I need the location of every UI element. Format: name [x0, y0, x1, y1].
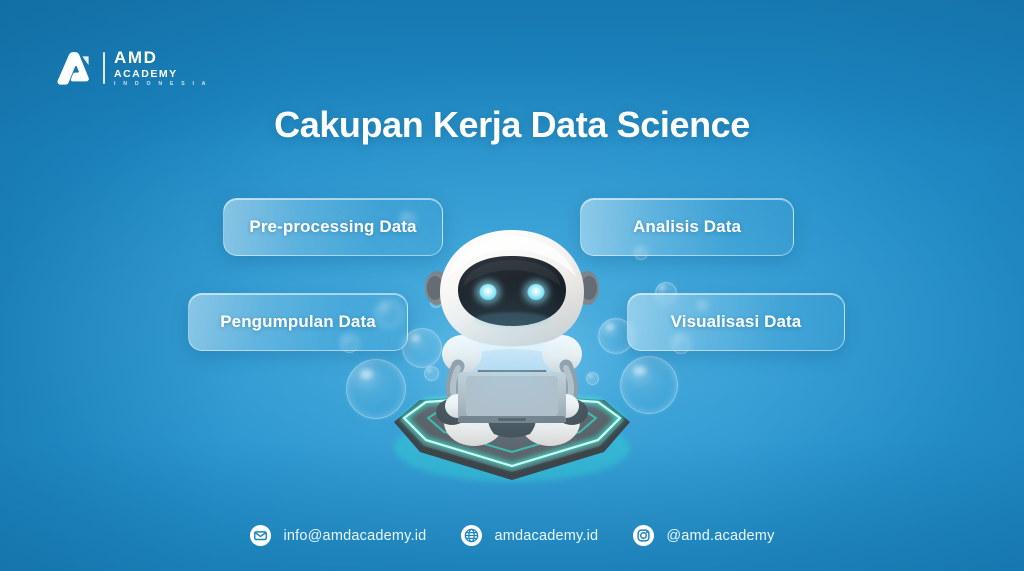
logo-text-country: I N D O N E S I A	[114, 82, 209, 87]
pill-pengumpulan-data[interactable]: Pengumpulan Data	[188, 293, 408, 351]
pill-pre-processing-data[interactable]: Pre-processing Data	[223, 198, 443, 256]
footer-contacts: info@amdacademy.id amdacademy.id @amd.ac…	[0, 524, 1024, 547]
pill-analisis-data[interactable]: Analisis Data	[580, 198, 794, 256]
robot-illustration	[362, 226, 662, 496]
logo-text-amd: AMD	[114, 49, 209, 66]
pill-label: Pre-processing Data	[249, 217, 416, 237]
brand-logo: AMD ACADEMY I N D O N E S I A	[54, 48, 209, 88]
globe-icon	[460, 524, 483, 547]
instagram-icon	[632, 524, 655, 547]
contact-website[interactable]: amdacademy.id	[460, 524, 598, 547]
mail-icon	[249, 524, 272, 547]
contact-email-text: info@amdacademy.id	[283, 528, 426, 544]
pill-label: Visualisasi Data	[671, 312, 802, 332]
page-title: Cakupan Kerja Data Science	[0, 104, 1024, 146]
pill-visualisasi-data[interactable]: Visualisasi Data	[627, 293, 845, 351]
logo-text-academy: ACADEMY	[114, 69, 209, 80]
contact-instagram[interactable]: @amd.academy	[632, 524, 774, 547]
pill-label: Analisis Data	[633, 217, 741, 237]
robot-glow	[347, 246, 677, 496]
slide-canvas: AMD ACADEMY I N D O N E S I A Cakupan Ke…	[0, 0, 1024, 571]
logo-divider	[103, 52, 105, 84]
contact-email[interactable]: info@amdacademy.id	[249, 524, 426, 547]
contact-website-text: amdacademy.id	[494, 528, 598, 544]
pill-label: Pengumpulan Data	[220, 312, 376, 332]
contact-instagram-text: @amd.academy	[666, 528, 774, 544]
amd-a-mark-icon	[54, 48, 94, 88]
